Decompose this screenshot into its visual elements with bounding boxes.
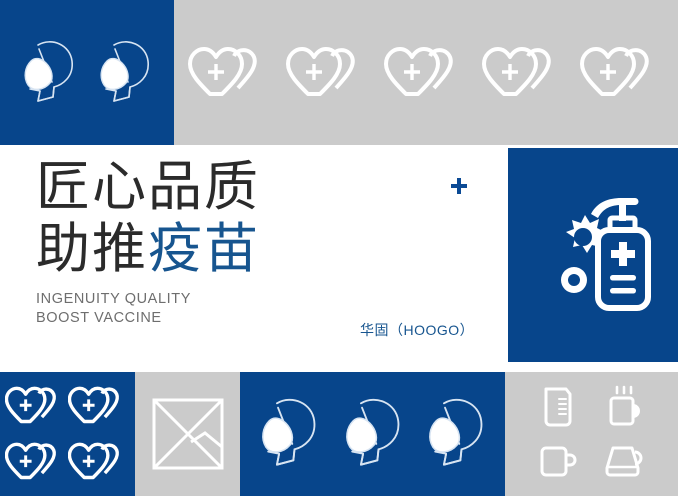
poster-canvas: 匠心品质 助推疫苗 INGENUITY QUALITY BOOST VACCIN…: [0, 0, 678, 496]
masked-head-icon: [94, 35, 156, 111]
vessel-icon-group: [505, 372, 678, 496]
headline-line-1: 匠心品质: [36, 160, 476, 214]
double-heart-plus-icon: [68, 440, 130, 484]
hand-sanitizer-bottle-icon: [523, 180, 663, 330]
headline-line-2-black: 助推: [36, 217, 148, 280]
double-heart-plus-icon: [5, 384, 67, 428]
sanitizer-icon-group: [508, 148, 678, 362]
plus-icon: [449, 176, 469, 196]
double-heart-plus-icon: [384, 44, 468, 102]
germ-dot-icon: [561, 267, 587, 293]
double-heart-plus-icon: [68, 384, 130, 428]
headline-line-2: 助推疫苗: [36, 222, 476, 276]
top-mask-icon-group: [0, 0, 174, 145]
double-heart-plus-icon: [482, 44, 566, 102]
broken-image-placeholder-icon: [151, 397, 225, 471]
double-heart-plus-icon: [286, 44, 370, 102]
brand-name: 华固（HOOGO）: [360, 320, 474, 340]
subcopy-line-1: INGENUITY QUALITY: [36, 290, 476, 309]
double-heart-plus-icon: [188, 44, 272, 102]
kettle-icon: [602, 440, 648, 482]
masked-head-icon: [339, 392, 407, 476]
headline-line-2-blue: 疫苗: [148, 217, 260, 280]
measuring-beaker-icon: [539, 385, 577, 429]
masked-head-icon: [422, 392, 490, 476]
steaming-mug-icon: [604, 384, 646, 430]
double-heart-plus-icon: [5, 440, 67, 484]
masked-head-icon: [255, 392, 323, 476]
broken-image-placeholder-wrap: [135, 372, 240, 496]
top-heart-icon-group: [174, 0, 678, 145]
masked-head-icon: [18, 35, 80, 111]
double-heart-plus-icon: [580, 44, 664, 102]
mug-icon: [537, 440, 579, 482]
bottom-heart-icon-group: [0, 372, 135, 496]
bottom-mask-icon-group: [240, 372, 505, 496]
